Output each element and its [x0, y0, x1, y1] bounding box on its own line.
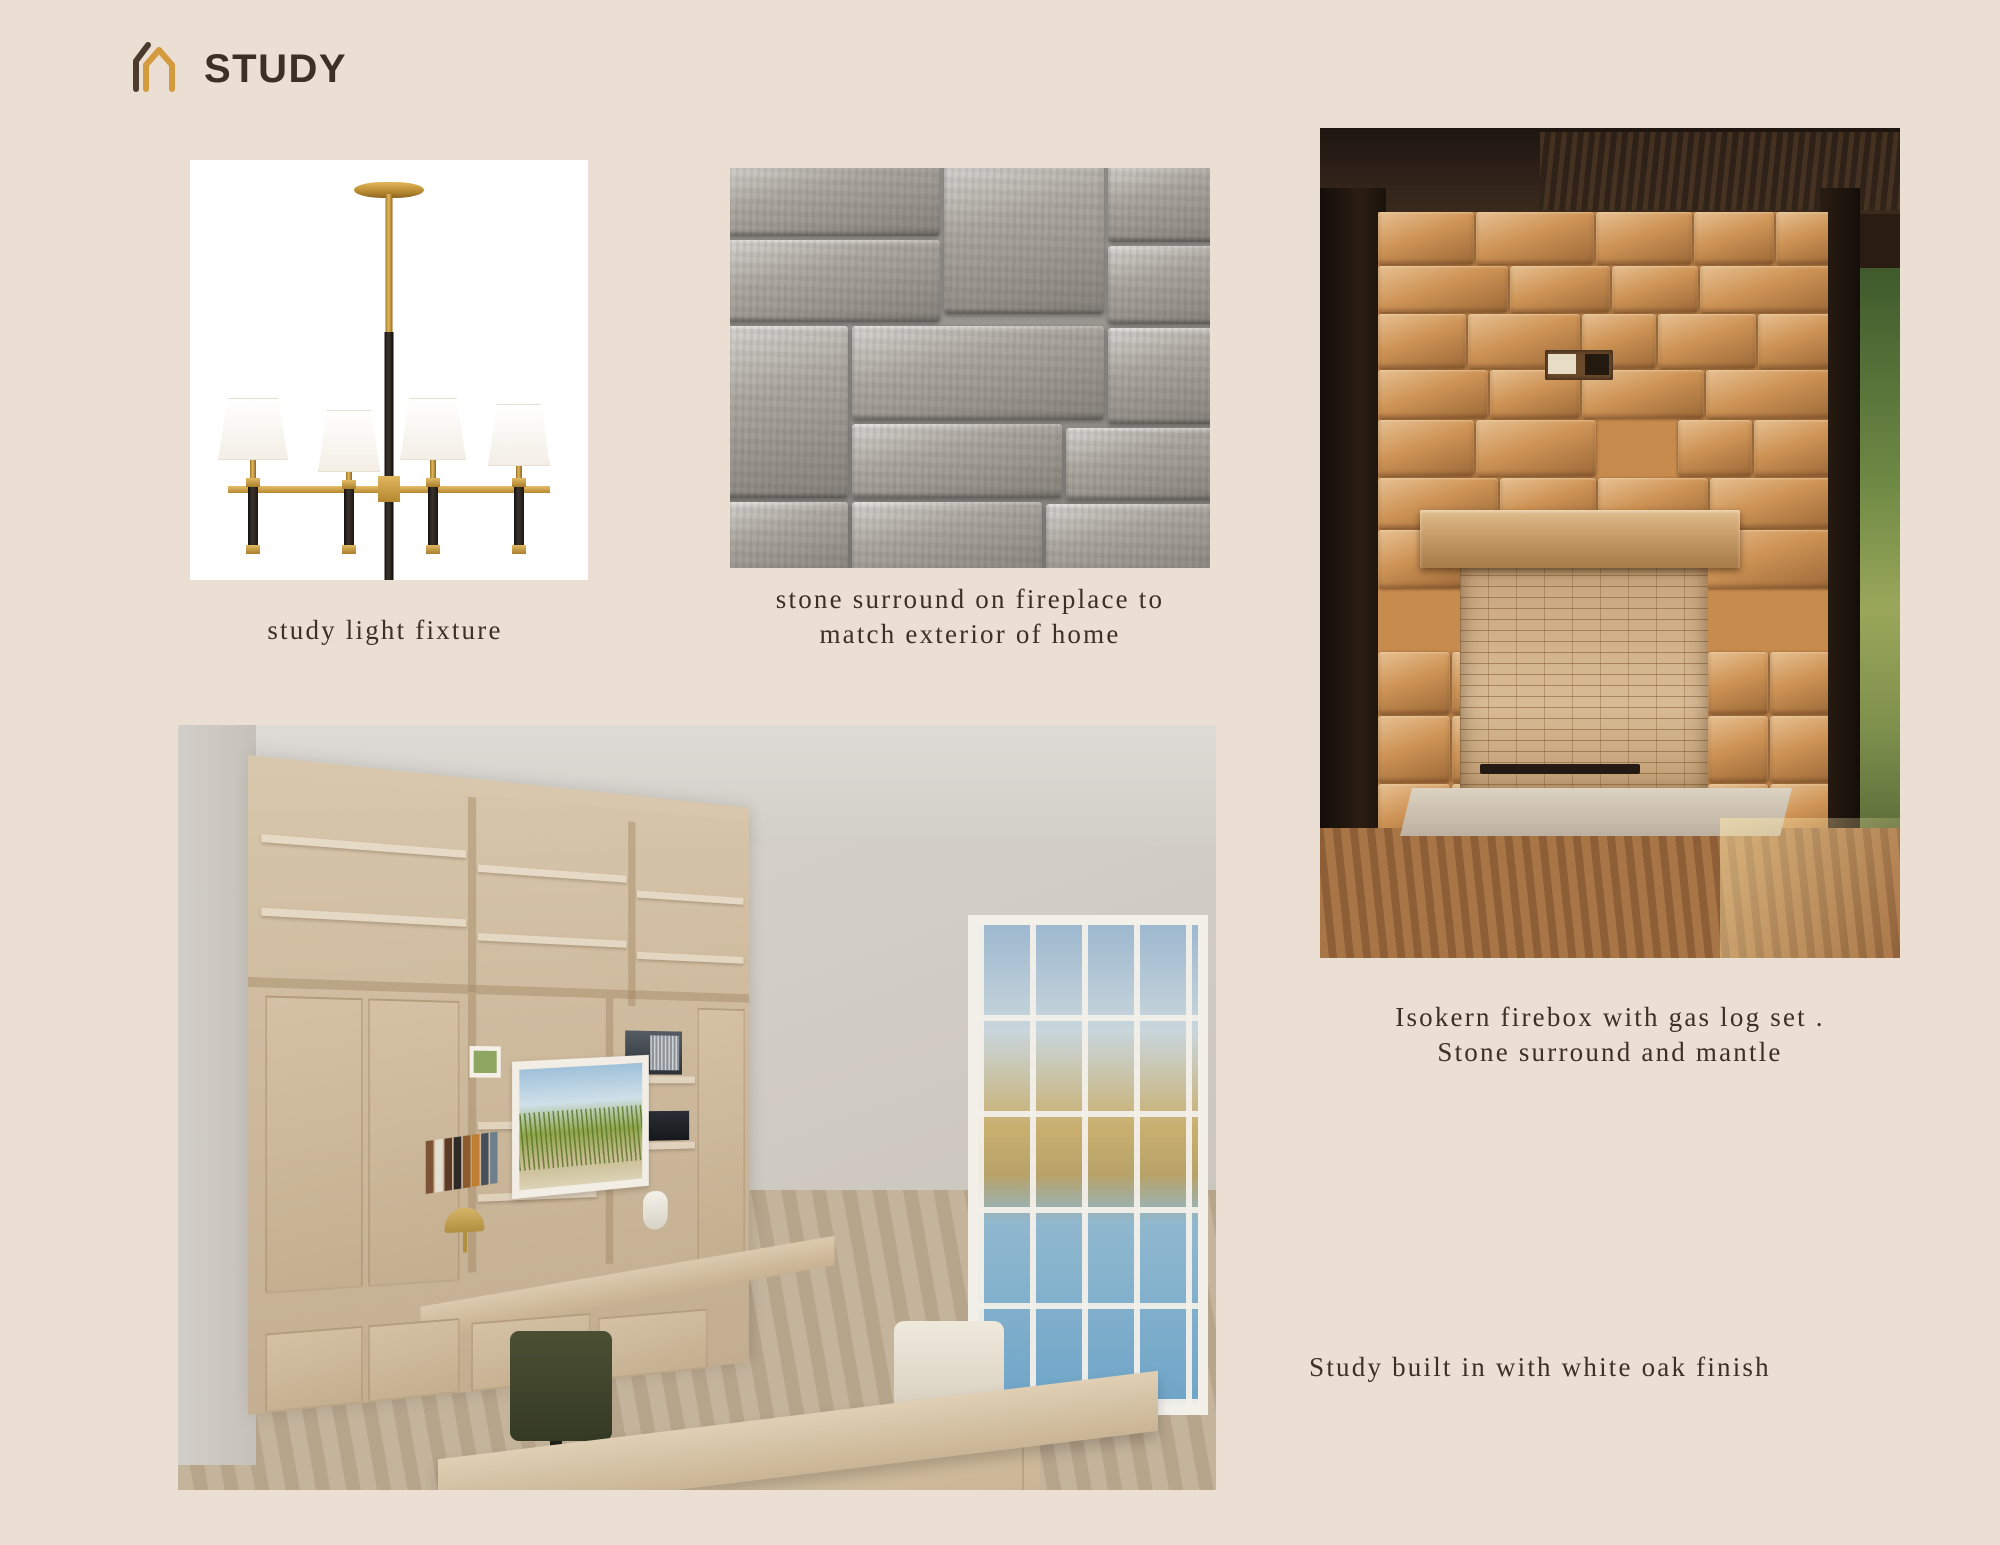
framed-beach-grass-art	[512, 1055, 649, 1199]
office-chair	[510, 1331, 612, 1441]
caption-study-built-in: Study built in with white oak finish	[1230, 1350, 1850, 1385]
fireplace-illustration	[1320, 128, 1900, 958]
fireplace-control-vent	[1545, 350, 1613, 380]
gas-log-grate	[1480, 764, 1640, 774]
study-render-illustration	[178, 725, 1216, 1490]
study-window	[968, 915, 1208, 1415]
chandelier-illustration	[190, 160, 588, 580]
stone-mantle	[1420, 510, 1740, 568]
caption-isokern-firebox: Isokern firebox with gas log set . Stone…	[1385, 1000, 1835, 1069]
study-render-photo	[178, 725, 1216, 1490]
stone-texture-illustration	[730, 168, 1210, 568]
mood-board: STUDY	[0, 0, 2000, 1545]
bookshelf-books	[426, 1131, 498, 1194]
chandelier-photo	[190, 160, 588, 580]
hearth-slab	[1400, 788, 1792, 836]
caption-study-light-fixture: study light fixture	[150, 613, 620, 648]
page-title: STUDY	[204, 45, 347, 89]
stone-texture-photo	[730, 168, 1210, 568]
shelf-vase	[643, 1191, 668, 1230]
firebox-opening	[1460, 566, 1708, 796]
fireplace-photo	[1320, 128, 1900, 958]
board-header: STUDY	[128, 36, 347, 98]
house-outline-logo-icon	[128, 39, 188, 95]
caption-stone-surround: stone surround on fireplace to match ext…	[735, 582, 1205, 651]
built-in-millwork	[248, 755, 749, 1415]
framed-small-art	[470, 1046, 501, 1078]
